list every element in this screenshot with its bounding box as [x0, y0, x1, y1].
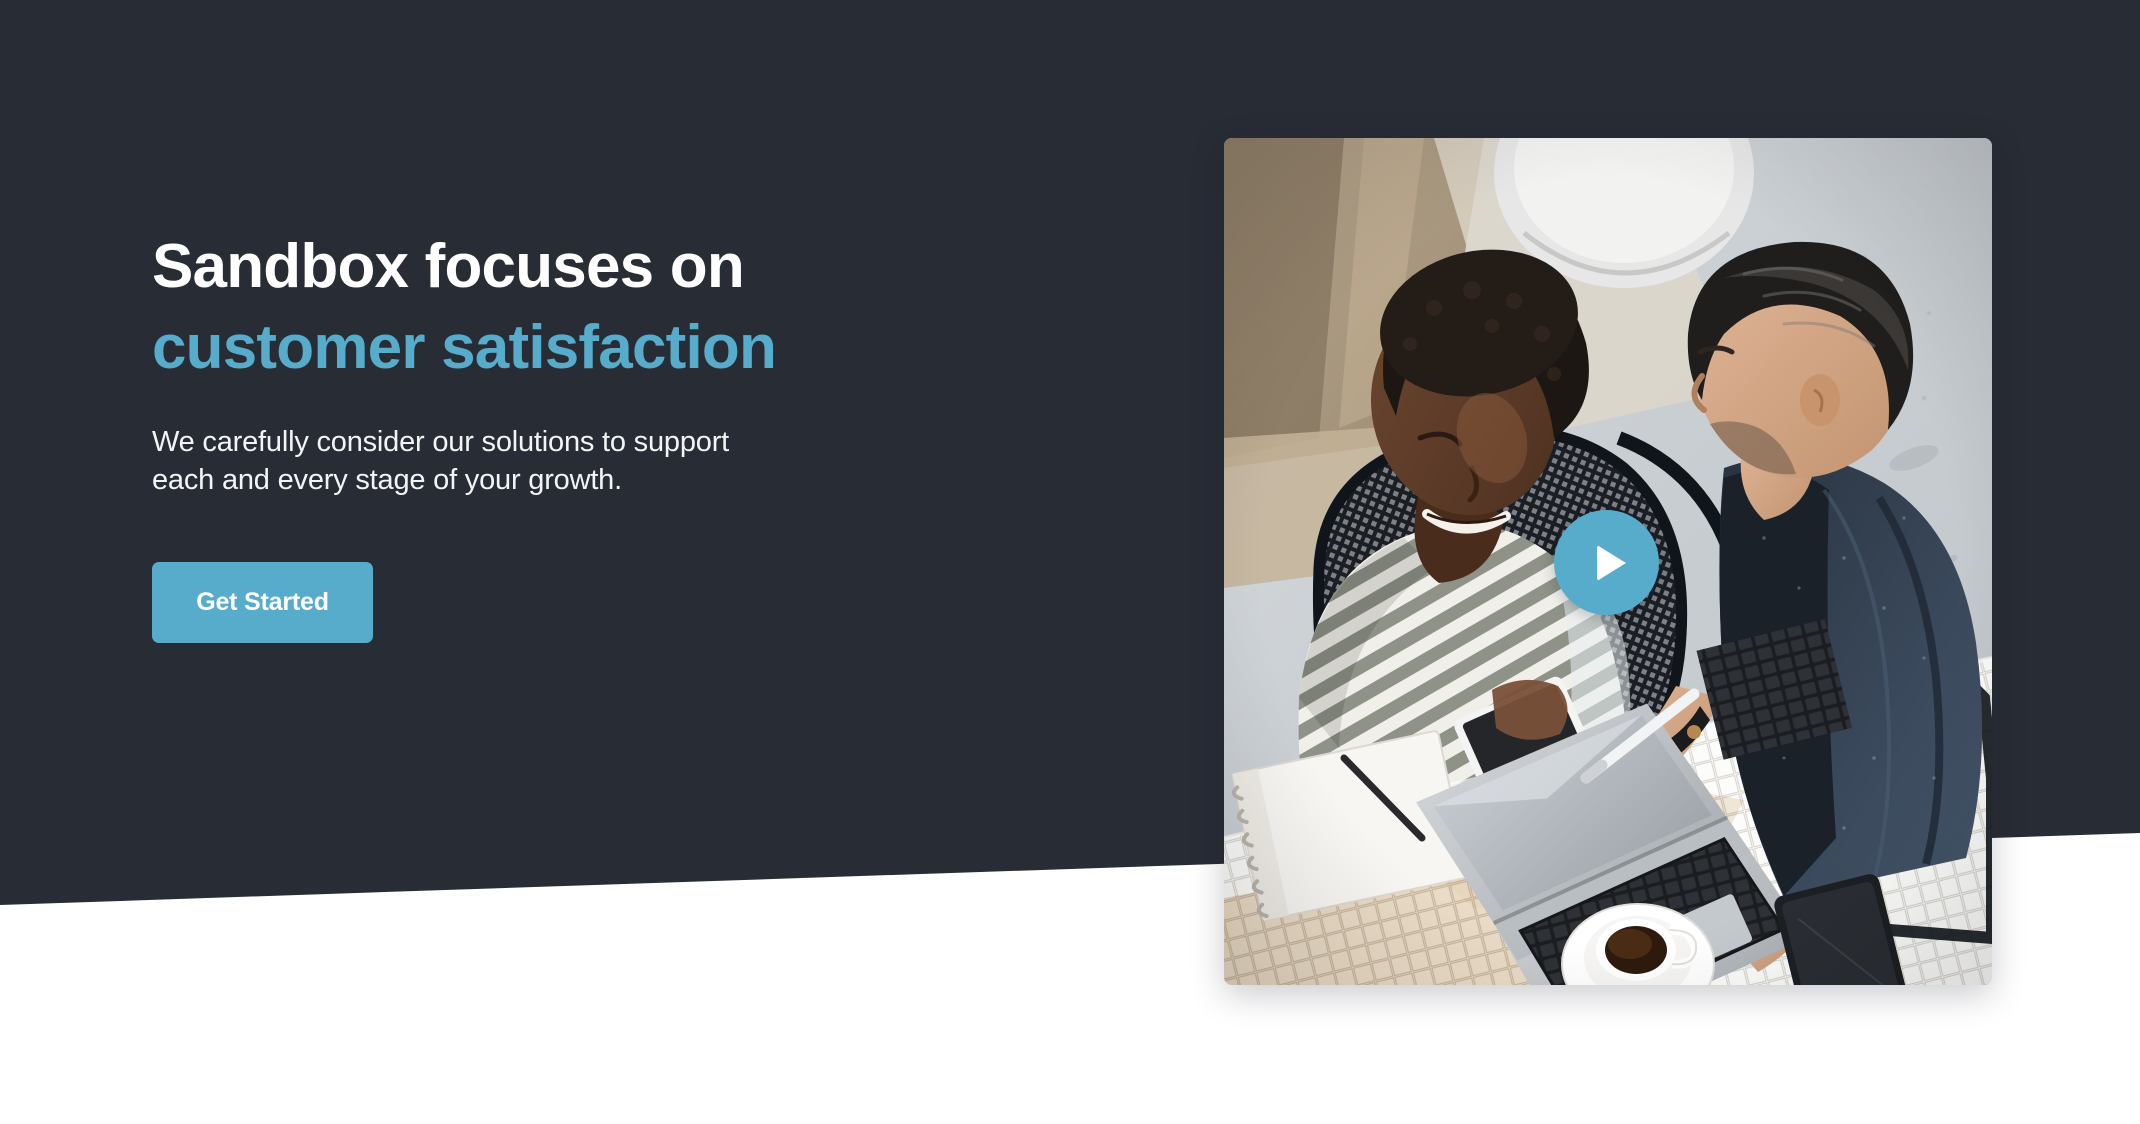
hero-copy-block: Sandbox focuses on customer satisfaction… — [152, 236, 912, 643]
subcopy-line-1: We carefully consider our solutions to s… — [152, 423, 892, 461]
hero-subcopy: We carefully consider our solutions to s… — [152, 423, 892, 500]
headline-line-2-accent: customer satisfaction — [152, 317, 912, 379]
get-started-button[interactable]: Get Started — [152, 562, 373, 643]
subcopy-line-2: each and every stage of your growth. — [152, 461, 892, 499]
hero-section: Sandbox focuses on customer satisfaction… — [0, 0, 2140, 1124]
headline-line-1: Sandbox focuses on — [152, 236, 912, 298]
play-triangle-icon — [1597, 545, 1626, 581]
play-video-button[interactable] — [1554, 510, 1659, 615]
page-title: Sandbox focuses on customer satisfaction — [152, 236, 912, 379]
